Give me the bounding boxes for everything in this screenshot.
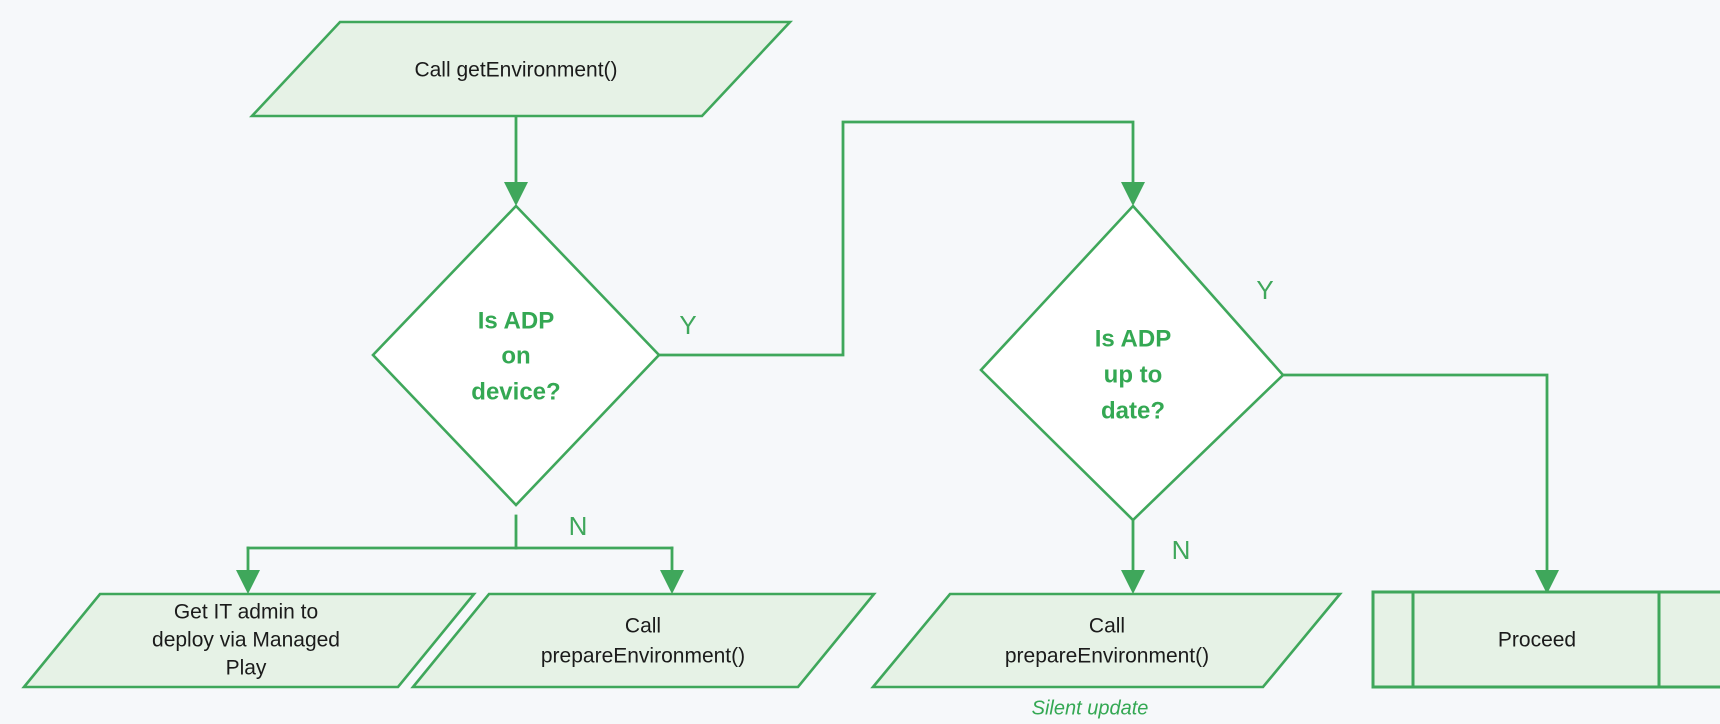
edge-label-device-no: N	[569, 511, 588, 541]
node-proceed[interactable]: Proceed	[1373, 592, 1720, 687]
node-get-it-admin-line3: Play	[226, 657, 267, 680]
node-get-it-admin-line1: Get IT admin to	[174, 601, 318, 624]
node-get-it-admin[interactable]: Get IT admin to deploy via Managed Play	[24, 594, 474, 687]
node-call-prepare-environment-left[interactable]: Call prepareEnvironment()	[413, 594, 874, 687]
node-call-get-environment-label: Call getEnvironment()	[414, 59, 617, 82]
decision-adp-up-to-date-line2: up to	[1104, 361, 1163, 388]
decision-adp-on-device-line3: device?	[471, 378, 560, 405]
node-call-prepare-environment-left-line1: Call	[625, 615, 661, 638]
node-call-prepare-environment-right-line2: prepareEnvironment()	[1005, 645, 1209, 668]
note-silent-update: Silent update	[1032, 697, 1149, 719]
decision-adp-on-device-line1: Is ADP	[478, 307, 554, 334]
decision-adp-up-to-date-line1: Is ADP	[1095, 325, 1171, 352]
edge-label-uptodate-yes: Y	[1256, 275, 1273, 305]
edge-label-uptodate-no: N	[1172, 535, 1191, 565]
node-call-prepare-environment-left-line2: prepareEnvironment()	[541, 645, 745, 668]
flowchart-canvas: Call getEnvironment() Is ADP on device? …	[0, 0, 1720, 724]
node-call-prepare-environment-right[interactable]: Call prepareEnvironment()	[873, 594, 1340, 687]
decision-adp-up-to-date-line3: date?	[1101, 397, 1165, 424]
node-proceed-label: Proceed	[1498, 629, 1576, 652]
decision-adp-on-device-line2: on	[501, 342, 530, 369]
flowchart-diagram: Call getEnvironment() Is ADP on device? …	[0, 0, 1720, 724]
node-call-get-environment[interactable]: Call getEnvironment()	[252, 22, 790, 116]
node-call-prepare-environment-right-line1: Call	[1089, 615, 1125, 638]
edge-label-device-yes: Y	[679, 310, 696, 340]
node-get-it-admin-line2: deploy via Managed	[152, 629, 340, 652]
